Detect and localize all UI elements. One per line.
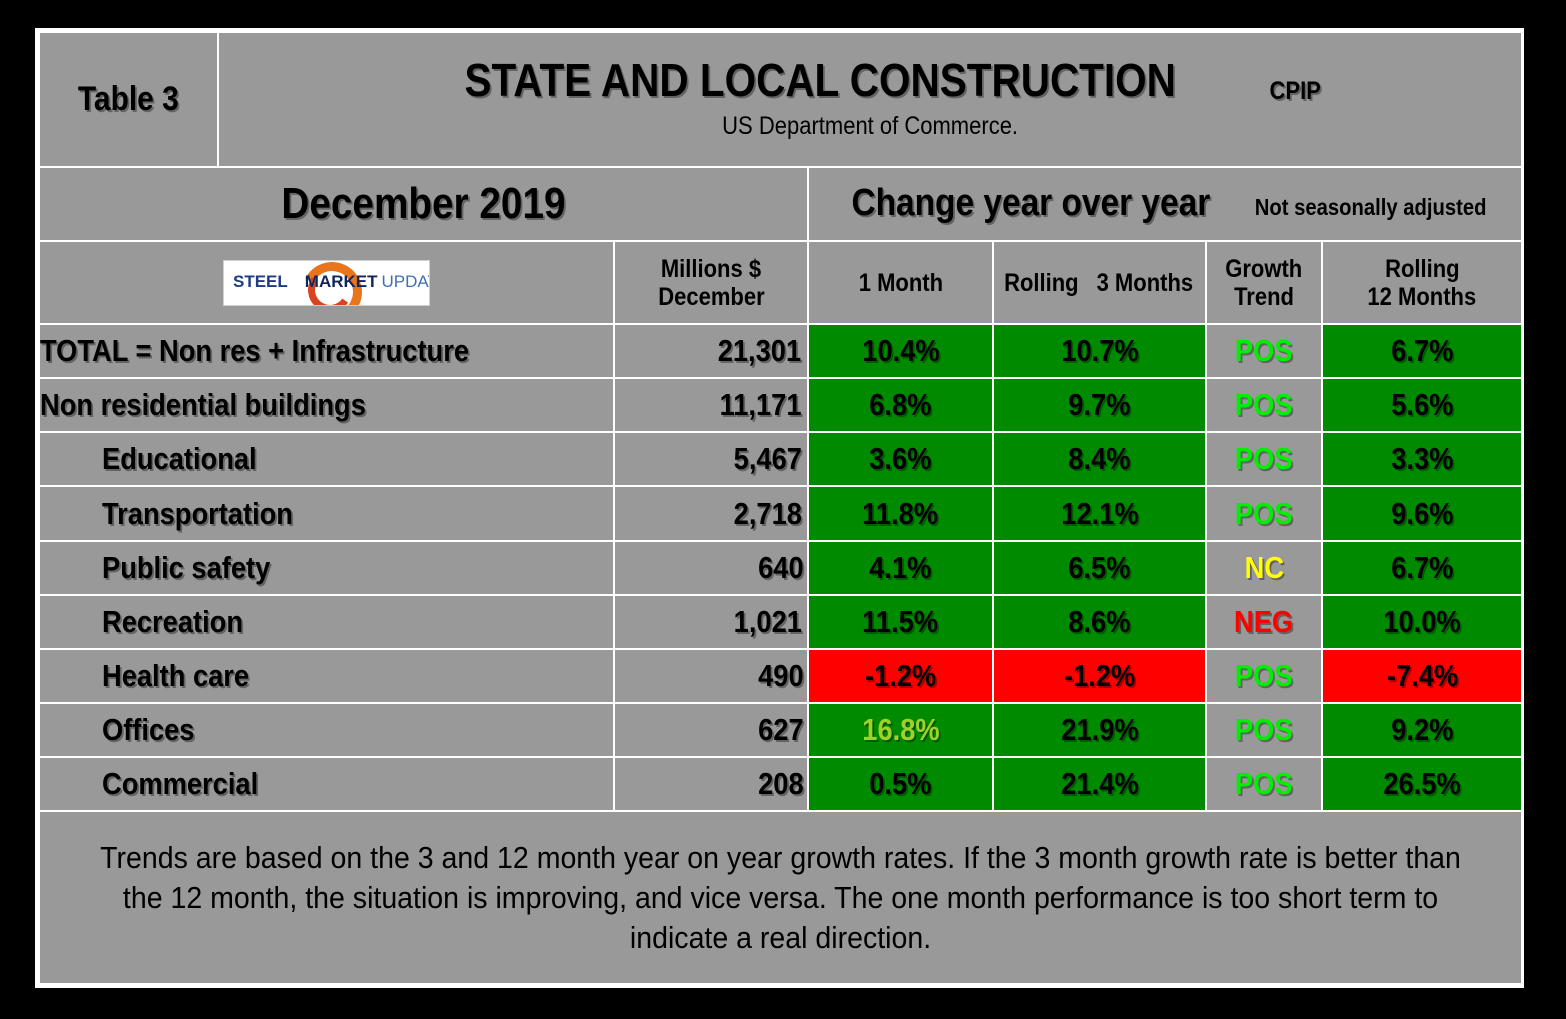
row-trend-badge: POS (1235, 441, 1293, 477)
row-trend-badge: POS (1235, 333, 1293, 369)
column-header-rolling12-line2: 12 Months (1368, 283, 1477, 311)
table-sheet: Table 3 STATE AND LOCAL CONSTRUCTIONCPIP… (35, 28, 1524, 988)
row-one-month-cell: 3.6% (808, 432, 993, 486)
row-trend-badge: POS (1235, 712, 1293, 748)
row-rolling12-value: 6.7% (1391, 550, 1453, 586)
row-trend-cell: POS (1206, 703, 1322, 757)
row-label: Commercial (102, 766, 258, 802)
row-value-cell: 490 (614, 649, 808, 703)
row-rolling3-cell: 8.4% (993, 432, 1206, 486)
footer-note: Trends are based on the 3 and 12 month y… (99, 838, 1462, 957)
row-trend-cell: POS (1206, 324, 1322, 378)
title-row: Table 3 STATE AND LOCAL CONSTRUCTIONCPIP… (39, 32, 1522, 167)
logo-word-market: MARKET (305, 272, 378, 291)
row-value-cell: 640 (614, 541, 808, 595)
row-one-month-cell: 11.5% (808, 595, 993, 649)
row-one-month-value: 11.5% (863, 604, 939, 640)
table-row: TOTAL = Non res + Infrastructure21,30110… (39, 324, 1522, 378)
row-rolling3-value: 9.7% (1068, 387, 1130, 423)
row-one-month-cell: 16.8% (808, 703, 993, 757)
row-label-cell: Offices (39, 703, 614, 757)
row-trend-badge: POS (1235, 658, 1293, 694)
row-one-month-value: 0.5% (869, 766, 931, 802)
row-one-month-cell: -1.2% (808, 649, 993, 703)
row-label: Offices (102, 712, 194, 748)
title-cell: STATE AND LOCAL CONSTRUCTIONCPIP US Depa… (218, 32, 1522, 167)
row-rolling12-value: 3.3% (1391, 441, 1453, 477)
column-header-one-month: 1 Month (808, 241, 993, 324)
row-value: 490 (758, 658, 804, 694)
row-one-month-cell: 0.5% (808, 757, 993, 811)
row-rolling3-cell: 10.7% (993, 324, 1206, 378)
page-subtitle: US Department of Commerce. (722, 108, 1018, 146)
steel-market-update-logo: STEELMARKETUPDATE (223, 260, 430, 306)
column-header-rolling-3: Rolling 3 Months (993, 241, 1206, 324)
row-trend-cell: POS (1206, 432, 1322, 486)
row-value-cell: 11,171 (614, 378, 808, 432)
logo-cell: STEELMARKETUPDATE (39, 241, 614, 324)
row-rolling12-value: -7.4% (1386, 658, 1457, 694)
row-rolling3-cell: -1.2% (993, 649, 1206, 703)
column-header-trend-line1: Growth (1226, 255, 1303, 283)
row-trend-cell: POS (1206, 486, 1322, 540)
column-header-value: Millions $ December (614, 241, 808, 324)
row-one-month-value: 4.1% (869, 550, 931, 586)
row-one-month-value: 10.4% (862, 333, 939, 369)
logo-word-steel: STEEL (233, 272, 288, 291)
row-rolling3-value: 8.4% (1068, 441, 1130, 477)
row-label-cell: Health care (39, 649, 614, 703)
row-rolling12-cell: 9.6% (1322, 486, 1522, 540)
row-value-cell: 1,021 (614, 595, 808, 649)
table-row: Recreation1,02111.5%8.6%NEG10.0% (39, 595, 1522, 649)
row-one-month-cell: 11.8% (808, 486, 993, 540)
row-value-cell: 627 (614, 703, 808, 757)
row-one-month-cell: 6.8% (808, 378, 993, 432)
row-label-cell: Educational (39, 432, 614, 486)
row-value: 21,301 (718, 333, 801, 369)
row-rolling3-cell: 8.6% (993, 595, 1206, 649)
footer-note-cell: Trends are based on the 3 and 12 month y… (39, 811, 1522, 984)
logo-word-update: UPDATE (382, 272, 430, 291)
row-rolling3-value: 21.9% (1061, 712, 1138, 748)
row-value: 11,171 (719, 387, 801, 423)
row-value-cell: 5,467 (614, 432, 808, 486)
row-rolling3-value: 21.4% (1061, 766, 1138, 802)
row-value: 1,021 (734, 604, 802, 640)
row-one-month-cell: 4.1% (808, 541, 993, 595)
row-value-cell: 21,301 (614, 324, 808, 378)
row-label-cell: TOTAL = Non res + Infrastructure (39, 324, 614, 378)
row-rolling12-value: 9.2% (1391, 712, 1453, 748)
table-row: Educational5,4673.6%8.4%POS3.3% (39, 432, 1522, 486)
page-title: STATE AND LOCAL CONSTRUCTION (464, 57, 1175, 103)
column-header-growth-trend: Growth Trend (1206, 241, 1322, 324)
column-header-value-line2: December (658, 283, 764, 311)
row-rolling12-cell: 10.0% (1322, 595, 1522, 649)
row-rolling3-cell: 21.4% (993, 757, 1206, 811)
logo-wordmark: STEELMARKETUPDATE (233, 272, 430, 292)
row-trend-badge: POS (1235, 496, 1293, 532)
row-trend-cell: POS (1206, 757, 1322, 811)
table-number-cell: Table 3 (39, 32, 218, 167)
row-rolling12-value: 5.6% (1391, 387, 1453, 423)
row-rolling3-cell: 21.9% (993, 703, 1206, 757)
row-one-month-value: -1.2% (865, 658, 936, 694)
column-header-row: STEELMARKETUPDATE Millions $ December 1 … (39, 241, 1522, 324)
table-row: Commercial2080.5%21.4%POS26.5% (39, 757, 1522, 811)
row-label: Educational (102, 441, 257, 477)
row-trend-badge: POS (1235, 387, 1293, 423)
construction-data-table: Table 3 STATE AND LOCAL CONSTRUCTIONCPIP… (38, 31, 1523, 985)
row-label-cell: Public safety (39, 541, 614, 595)
screenshot-frame: Table 3 STATE AND LOCAL CONSTRUCTIONCPIP… (0, 0, 1566, 1019)
row-label: Recreation (102, 604, 243, 640)
column-header-trend-line2: Trend (1234, 283, 1294, 311)
change-yoy-title: Change year over year (852, 184, 1211, 224)
table-number-label: Table 3 (78, 80, 179, 119)
table-row: Transportation2,71811.8%12.1%POS9.6% (39, 486, 1522, 540)
column-header-rolling3-line2: 3 Months (1097, 269, 1194, 297)
row-one-month-value: 11.8% (863, 496, 939, 532)
row-rolling3-value: 8.6% (1068, 604, 1130, 640)
row-rolling3-value: 6.5% (1068, 550, 1130, 586)
row-one-month-value: 3.6% (869, 441, 931, 477)
row-value-cell: 208 (614, 757, 808, 811)
row-rolling12-cell: 9.2% (1322, 703, 1522, 757)
row-value-cell: 2,718 (614, 486, 808, 540)
row-value: 208 (758, 766, 804, 802)
row-rolling12-cell: -7.4% (1322, 649, 1522, 703)
row-rolling12-value: 9.6% (1391, 496, 1453, 532)
row-label: Public safety (102, 550, 270, 586)
title-tag: CPIP (1270, 77, 1321, 106)
row-value: 5,467 (734, 441, 802, 477)
table-row: Public safety6404.1%6.5%NC6.7% (39, 541, 1522, 595)
row-rolling12-value: 26.5% (1383, 766, 1460, 802)
row-rolling3-value: 12.1% (1061, 496, 1138, 532)
row-trend-cell: NEG (1206, 595, 1322, 649)
row-trend-cell: NC (1206, 541, 1322, 595)
row-label-cell: Recreation (39, 595, 614, 649)
row-one-month-cell: 10.4% (808, 324, 993, 378)
row-rolling3-cell: 6.5% (993, 541, 1206, 595)
row-label-cell: Non residential buildings (39, 378, 614, 432)
period-cell: December 2019 (39, 167, 808, 241)
row-trend-cell: POS (1206, 649, 1322, 703)
row-value: 2,718 (734, 496, 802, 532)
table-body: TOTAL = Non res + Infrastructure21,30110… (39, 324, 1522, 812)
row-label: Health care (102, 658, 249, 694)
column-header-value-line1: Millions $ (661, 255, 761, 283)
row-rolling12-value: 10.0% (1383, 604, 1460, 640)
table-row: Health care490-1.2%-1.2%POS-7.4% (39, 649, 1522, 703)
row-label-cell: Commercial (39, 757, 614, 811)
footer-row: Trends are based on the 3 and 12 month y… (39, 811, 1522, 984)
row-label: Non residential buildings (40, 387, 366, 423)
row-label: Transportation (102, 496, 293, 532)
column-header-rolling-12: Rolling 12 Months (1322, 241, 1522, 324)
row-rolling12-cell: 26.5% (1322, 757, 1522, 811)
row-rolling3-cell: 9.7% (993, 378, 1206, 432)
change-yoy-subtitle: Not seasonally adjusted (1255, 189, 1487, 226)
row-one-month-value: 6.8% (869, 387, 931, 423)
row-rolling12-cell: 6.7% (1322, 541, 1522, 595)
row-value: 627 (758, 712, 804, 748)
row-trend-badge: NEG (1234, 604, 1293, 640)
column-header-rolling3-line1: Rolling (1004, 269, 1079, 297)
row-one-month-value: 16.8% (862, 712, 939, 748)
row-rolling3-value: -1.2% (1064, 658, 1135, 694)
row-value: 640 (758, 550, 804, 586)
row-rolling12-cell: 3.3% (1322, 432, 1522, 486)
row-trend-cell: POS (1206, 378, 1322, 432)
change-yoy-cell: Change year over year Not seasonally adj… (808, 167, 1522, 241)
column-header-one-month-label: 1 Month (858, 269, 942, 297)
row-trend-badge: POS (1235, 766, 1293, 802)
table-container: Table 3 STATE AND LOCAL CONSTRUCTIONCPIP… (38, 31, 1521, 985)
period-label: December 2019 (281, 179, 565, 229)
row-label-cell: Transportation (39, 486, 614, 540)
row-rolling3-value: 10.7% (1061, 333, 1138, 369)
row-rolling12-value: 6.7% (1391, 333, 1453, 369)
row-rolling3-cell: 12.1% (993, 486, 1206, 540)
row-trend-badge: NC (1244, 550, 1283, 586)
column-header-rolling12-line1: Rolling (1385, 255, 1460, 283)
period-row: December 2019 Change year over year Not … (39, 167, 1522, 241)
table-row: Offices62716.8%21.9%POS9.2% (39, 703, 1522, 757)
table-row: Non residential buildings11,1716.8%9.7%P… (39, 378, 1522, 432)
row-rolling12-cell: 6.7% (1322, 324, 1522, 378)
row-rolling12-cell: 5.6% (1322, 378, 1522, 432)
row-label: TOTAL = Non res + Infrastructure (40, 333, 469, 369)
